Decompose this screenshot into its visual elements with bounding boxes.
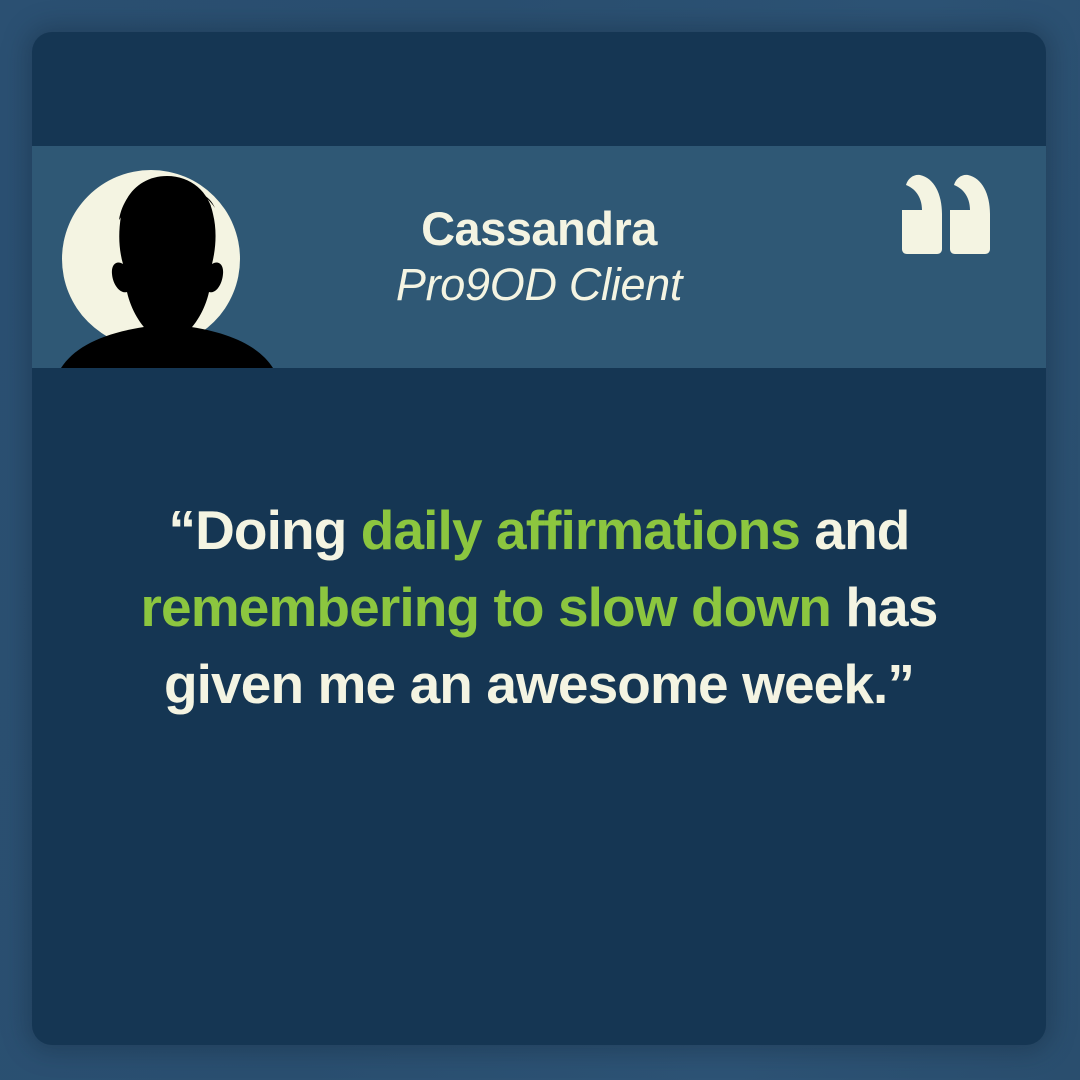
testimonial-graphic: Cassandra Pro9OD Client “Doing daily aff…	[0, 0, 1080, 1080]
quote-line-1-highlight: daily affirmations	[361, 499, 800, 561]
person-role: Pro9OD Client	[396, 258, 682, 313]
quote-line-3: given me an awesome week.”	[164, 653, 914, 715]
quote-line-2-highlight: remembering to slow down	[141, 576, 831, 638]
double-quote-icon	[898, 174, 990, 254]
quote-line-1-part-3: and	[800, 499, 909, 561]
quote-line-2-part-2: has	[831, 576, 937, 638]
quote-line-1-part-1: “Doing	[169, 499, 361, 561]
testimonial-quote: “Doing daily affirmations and rememberin…	[102, 492, 976, 723]
person-silhouette-icon	[61, 168, 273, 368]
testimonial-card: Cassandra Pro9OD Client “Doing daily aff…	[32, 32, 1046, 1045]
card-header-band: Cassandra Pro9OD Client	[32, 146, 1046, 368]
avatar	[62, 146, 272, 368]
person-name: Cassandra	[421, 201, 657, 256]
